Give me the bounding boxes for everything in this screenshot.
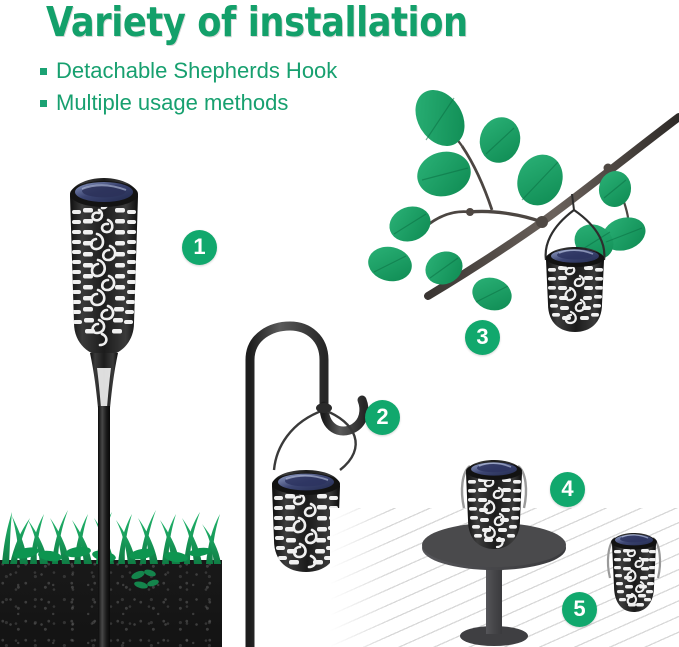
step-badge-2: 2: [365, 400, 400, 435]
square-bullet-icon: [40, 100, 47, 107]
solar-torch-light-1: [52, 158, 172, 578]
solar-lantern-5: [600, 524, 672, 622]
page-title: Variety of installation: [46, 0, 468, 46]
product-infographic: Variety of installation Detachable Sheph…: [0, 0, 679, 647]
tree-branch-group: [372, 82, 679, 347]
step-badge-1: 1: [182, 230, 217, 265]
step-badge-5: 5: [562, 592, 597, 627]
feature-bullet-1-label: Detachable Shepherds Hook: [56, 58, 337, 84]
feature-bullet-2: Multiple usage methods: [40, 90, 288, 116]
step-badge-4: 4: [550, 472, 585, 507]
feature-bullet-1: Detachable Shepherds Hook: [40, 58, 337, 84]
step-badge-3: 3: [465, 320, 500, 355]
deck-edge-fade: [330, 508, 390, 647]
square-bullet-icon: [40, 68, 47, 75]
feature-bullet-2-label: Multiple usage methods: [56, 90, 288, 116]
